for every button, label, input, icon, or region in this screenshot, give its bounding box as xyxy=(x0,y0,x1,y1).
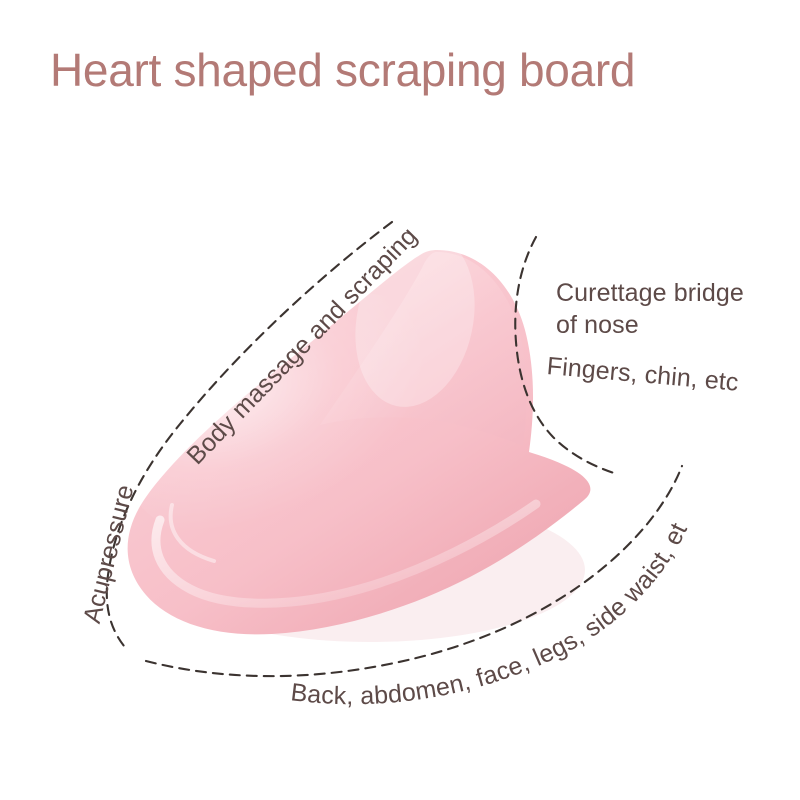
annotation-curettage-line2: of nose xyxy=(556,309,744,341)
illustration-stage: Back, abdomen, face, legs, side waist, e… xyxy=(0,0,800,800)
product-infographic: Heart shaped scraping board xyxy=(0,0,800,800)
gua-sha-illustration xyxy=(0,0,800,800)
annotation-curettage-line1: Curettage bridge xyxy=(556,279,744,307)
annotation-curettage: Curettage bridge of nose xyxy=(556,277,744,341)
